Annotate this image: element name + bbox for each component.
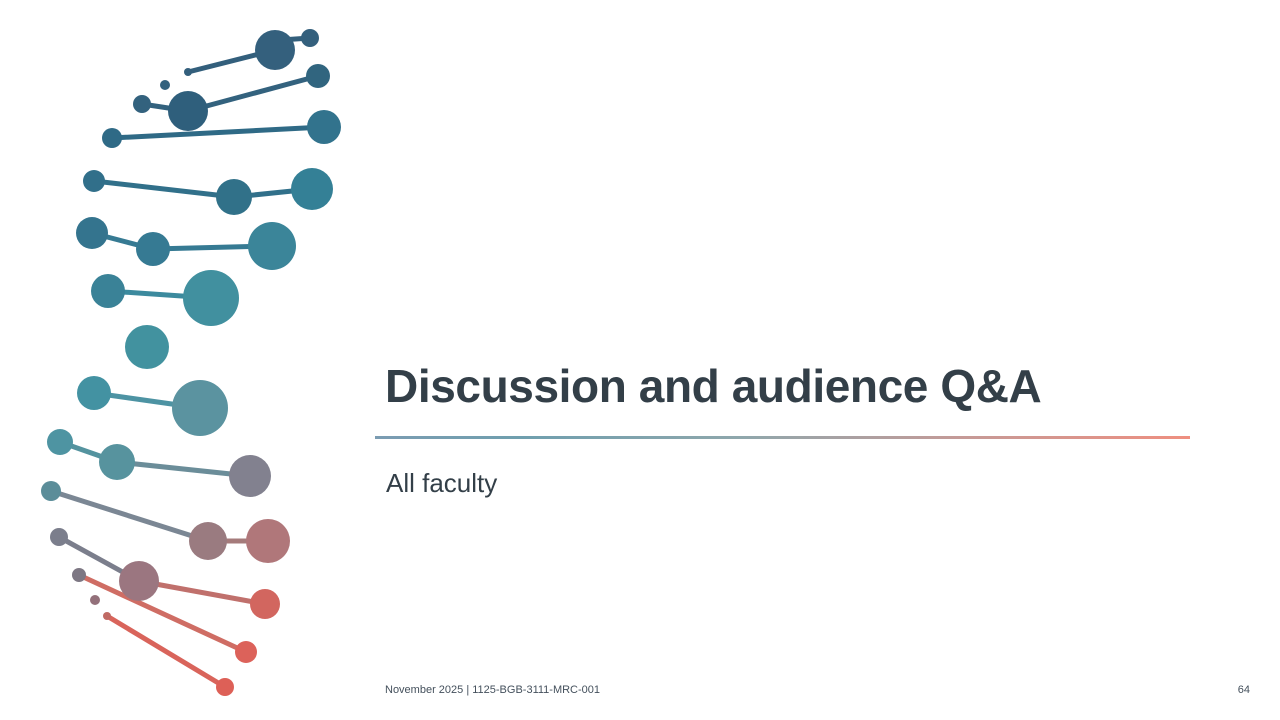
network-node [250,589,280,619]
network-edge [59,537,139,581]
network-node [50,528,68,546]
network-node [160,80,170,90]
network-node [72,568,86,582]
network-edge [92,233,153,249]
network-node [291,168,333,210]
network-node-graphic [0,0,370,720]
title-block: Discussion and audience Q&A [385,362,1190,412]
network-node [83,170,105,192]
network-edge [117,462,250,476]
network-node [47,429,73,455]
network-node [255,30,295,70]
network-node [216,179,252,215]
page-title: Discussion and audience Q&A [385,362,1190,412]
network-node [301,29,319,47]
network-edge [94,393,200,408]
network-edges [51,38,324,687]
network-node [136,232,170,266]
network-node [103,612,111,620]
footer-meta-text: November 2025 | 1125-BGB-3111-MRC-001 [385,684,600,696]
network-nodes [41,29,341,696]
network-node [77,376,111,410]
network-node [41,481,61,501]
title-divider-rule [375,436,1190,439]
network-edge [188,76,318,111]
network-node [183,270,239,326]
network-edge [281,38,310,40]
network-node [119,561,159,601]
network-node [90,595,100,605]
network-node [172,380,228,436]
network-edge [234,189,312,197]
network-edge [142,104,188,111]
network-edge [108,291,211,298]
network-node [246,519,290,563]
network-edge [94,181,234,197]
network-edge [188,50,275,72]
page-subtitle: All faculty [386,468,497,499]
network-edge [51,491,208,541]
network-node [307,110,341,144]
network-edge [107,616,225,687]
network-edge [112,127,324,138]
network-node [76,217,108,249]
network-node [184,68,192,76]
network-node [248,222,296,270]
network-node [189,522,227,560]
network-node [133,95,151,113]
network-node [125,325,169,369]
slide-footer: November 2025 | 1125-BGB-3111-MRC-001 64 [385,684,1250,696]
network-node [216,678,234,696]
network-node [99,444,135,480]
network-node [168,91,208,131]
slide-canvas: Discussion and audience Q&A All faculty … [0,0,1280,720]
network-edge [79,575,246,652]
network-edge [139,581,265,604]
network-node [102,128,122,148]
network-edge [153,246,272,249]
network-node [306,64,330,88]
network-node [229,455,271,497]
network-node [91,274,125,308]
network-edge [60,442,117,462]
footer-page-number: 64 [1238,684,1250,696]
network-node [235,641,257,663]
